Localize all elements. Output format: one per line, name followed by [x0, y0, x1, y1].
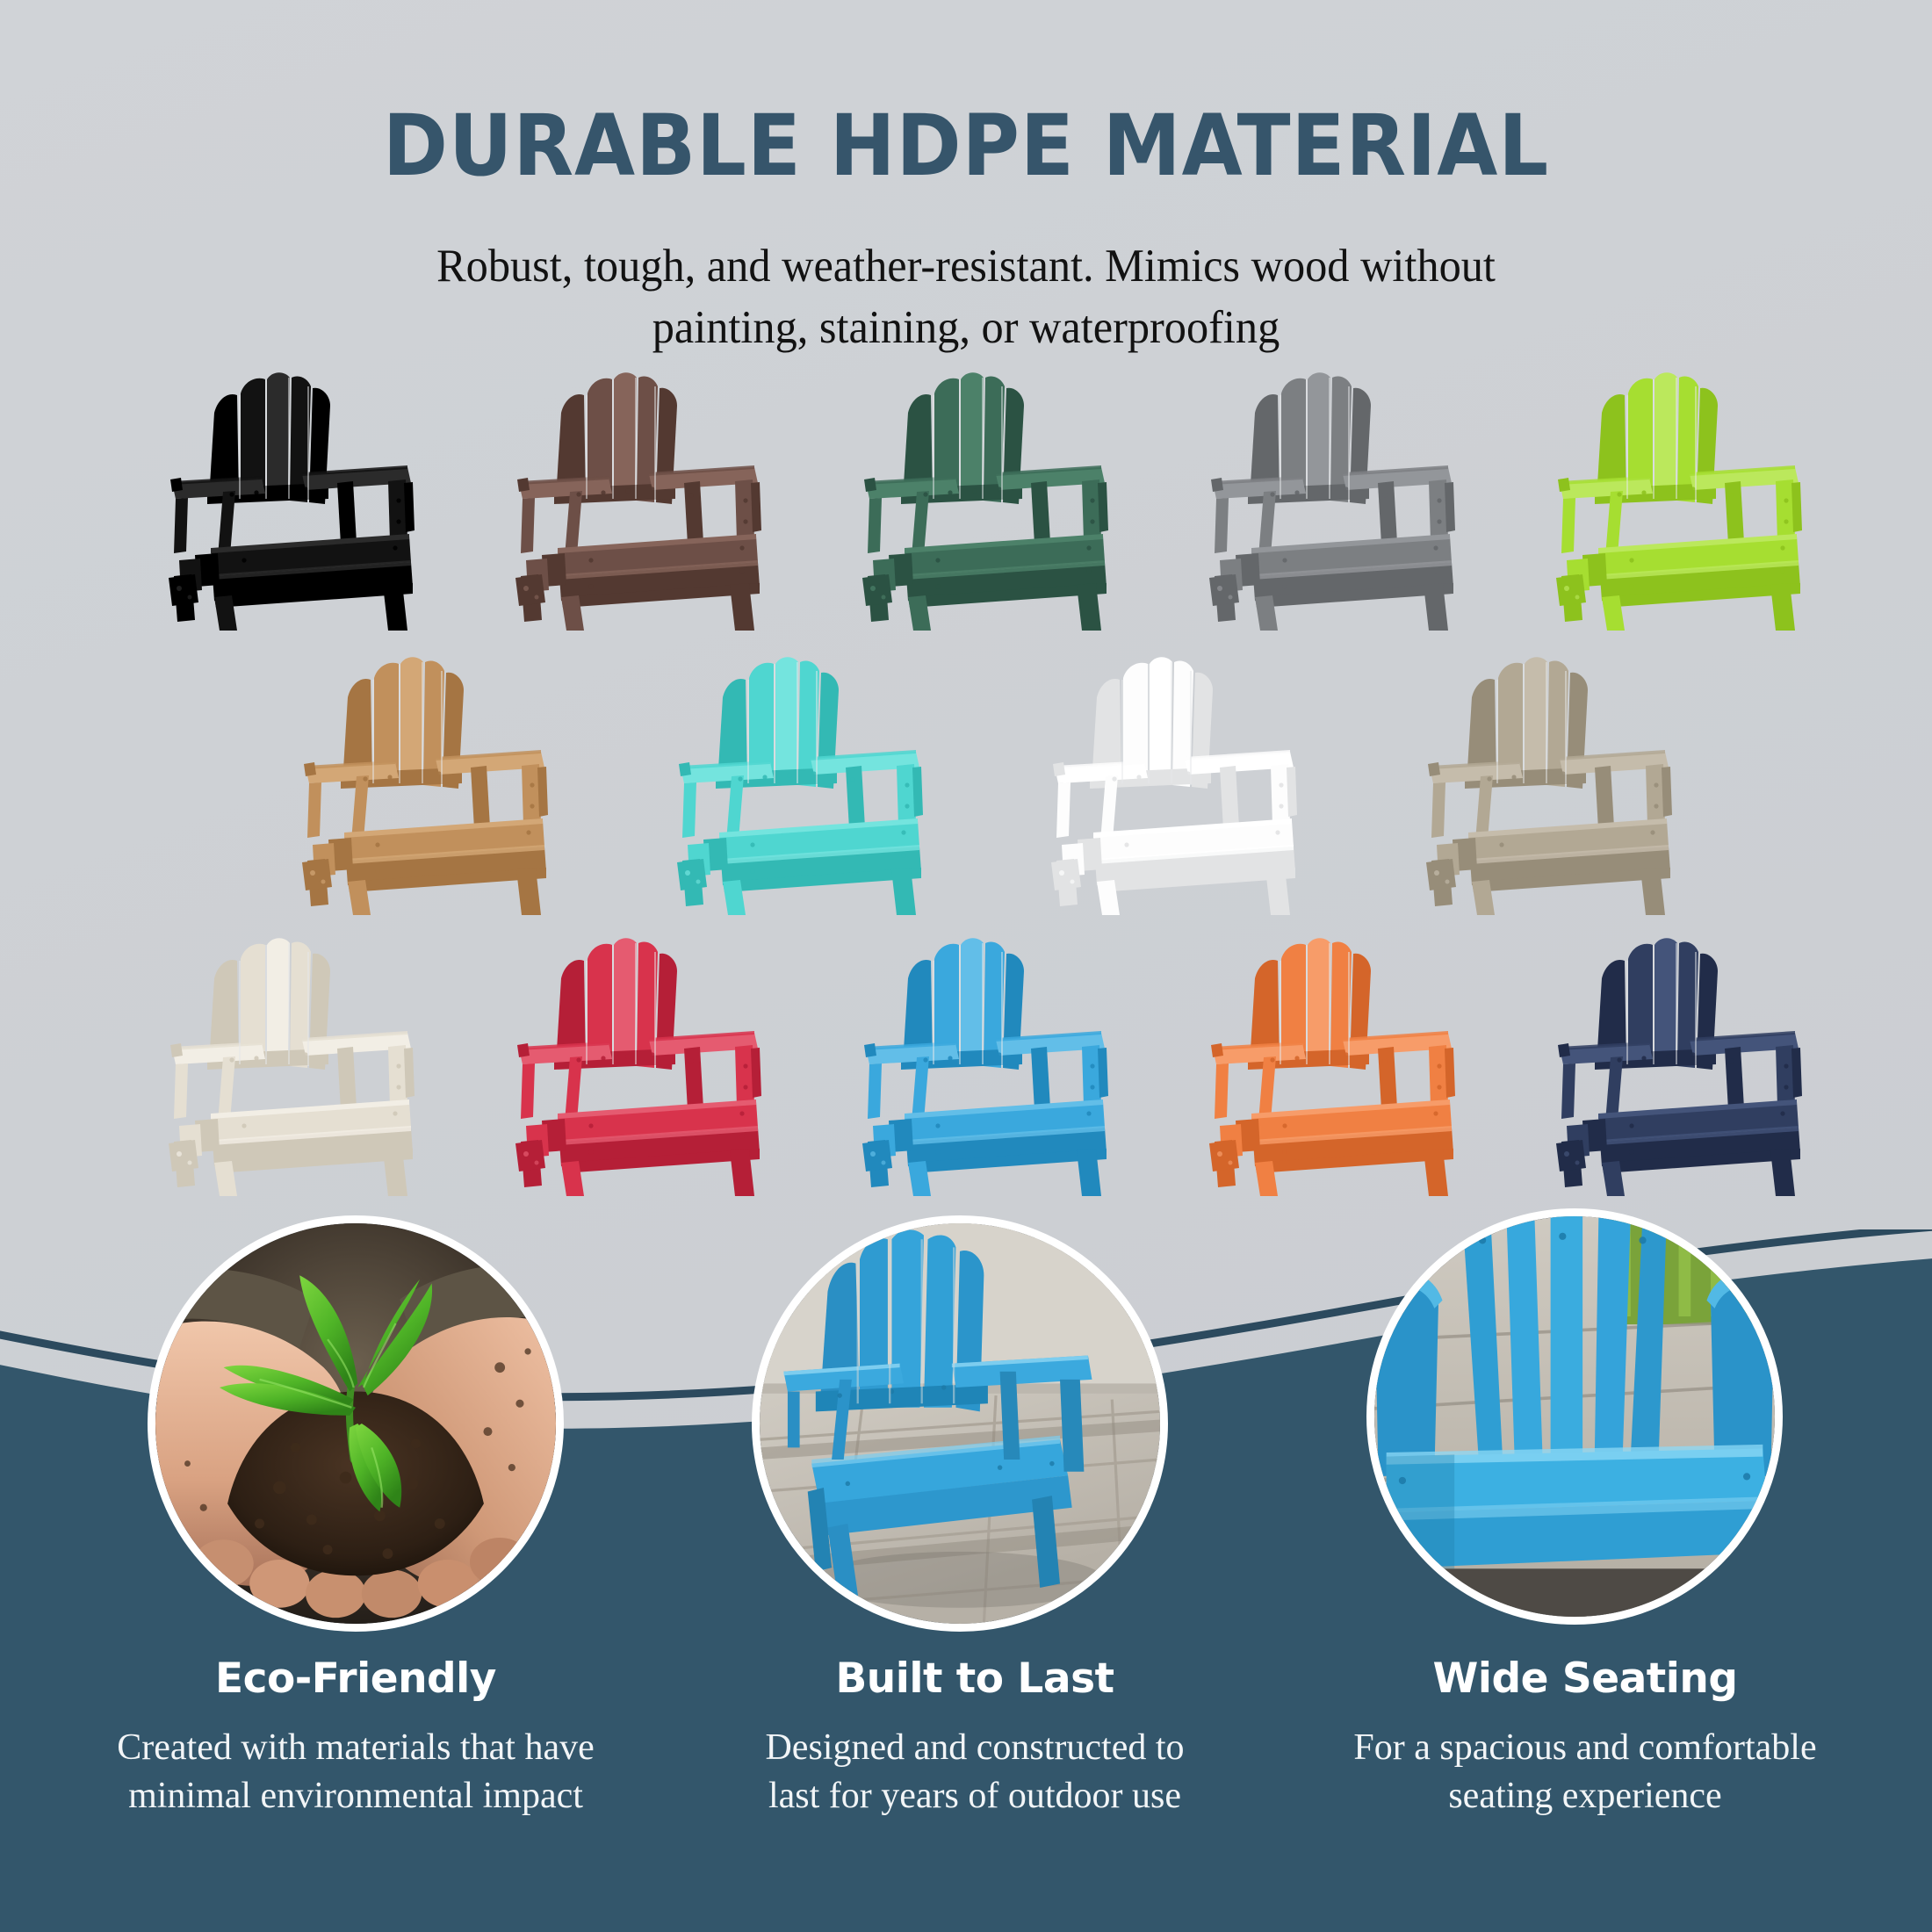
feature-desc-line-2: last for years of outdoor use	[667, 1772, 1282, 1820]
page-subtitle: Robust, tough, and weather-resistant. Mi…	[48, 235, 1884, 359]
chair-white[interactable]	[1039, 652, 1302, 915]
chair-black[interactable]	[156, 367, 420, 631]
feature-built-to-last: Built to Last Designed and constructed t…	[667, 1654, 1282, 1821]
subtitle-line-1: Robust, tough, and weather-resistant. Mi…	[48, 235, 1884, 297]
chair-row-2	[290, 652, 1677, 915]
chair-navy-blue[interactable]	[1544, 933, 1807, 1196]
chair-lime-green[interactable]	[1544, 367, 1807, 631]
chair-blue[interactable]	[850, 933, 1114, 1196]
feature-title: Wide Seating	[1278, 1654, 1892, 1703]
feature-desc-line-2: seating experience	[1278, 1772, 1892, 1820]
header: DURABLE HDPE MATERIAL Robust, tough, and…	[0, 0, 1932, 359]
feature-desc-line-1: Designed and constructed to	[667, 1724, 1282, 1772]
chair-dark-green[interactable]	[850, 367, 1114, 631]
chair-red[interactable]	[503, 933, 767, 1196]
infographic-canvas: DURABLE HDPE MATERIAL Robust, tough, and…	[0, 0, 1932, 1932]
subtitle-line-2: painting, staining, or waterproofing	[48, 297, 1884, 358]
photo-built-to-last	[752, 1215, 1168, 1632]
feature-eco-friendly: Eco-Friendly Created with materials that…	[48, 1654, 663, 1821]
chair-weathered-wood[interactable]	[1414, 652, 1677, 915]
feature-desc-line-1: Created with materials that have	[48, 1724, 663, 1772]
feature-title: Built to Last	[667, 1654, 1282, 1703]
chair-orange[interactable]	[1197, 933, 1460, 1196]
chair-ivory[interactable]	[156, 933, 420, 1196]
chair-turquoise[interactable]	[665, 652, 928, 915]
chair-gray[interactable]	[1197, 367, 1460, 631]
feature-description: For a spacious and comfortable seating e…	[1278, 1724, 1892, 1821]
page-title: DURABLE HDPE MATERIAL	[68, 104, 1864, 188]
feature-desc-line-1: For a spacious and comfortable	[1278, 1724, 1892, 1772]
chair-brown[interactable]	[503, 367, 767, 631]
feature-wide-seating: Wide Seating For a spacious and comforta…	[1278, 1654, 1892, 1821]
feature-description: Created with materials that have minimal…	[48, 1724, 663, 1821]
photo-eco-friendly	[148, 1215, 564, 1632]
feature-desc-line-2: minimal environmental impact	[48, 1772, 663, 1820]
feature-description: Designed and constructed to last for yea…	[667, 1724, 1282, 1821]
chair-row-1	[156, 367, 1807, 631]
photo-wide-seating	[1366, 1208, 1783, 1625]
chair-row-3	[156, 933, 1807, 1196]
chair-teak[interactable]	[290, 652, 553, 915]
feature-title: Eco-Friendly	[48, 1654, 663, 1703]
